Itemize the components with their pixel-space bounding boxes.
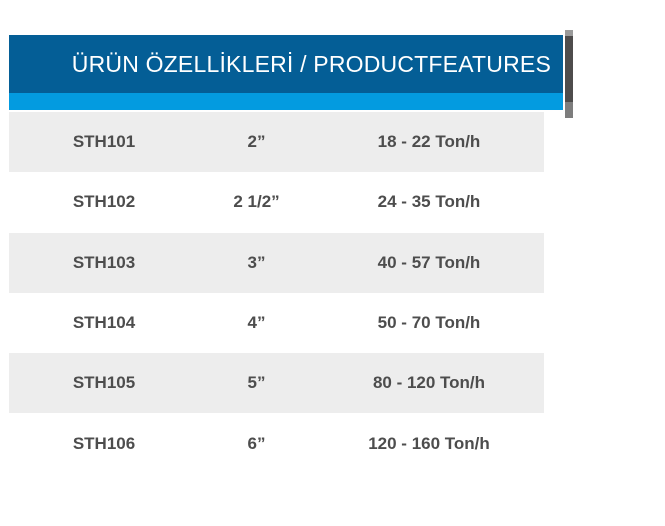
scrollbar-thumb[interactable] [565, 36, 573, 102]
page-title: ÜRÜN ÖZELLİKLERİ / PRODUCTFEATURES [9, 35, 551, 93]
table-row: STH105 5” 80 - 120 Ton/h [9, 353, 544, 413]
cell-size: 5” [199, 353, 314, 413]
cell-capacity: 50 - 70 Ton/h [314, 293, 544, 353]
cell-size: 4” [199, 293, 314, 353]
table-header-block: ÜRÜN ÖZELLİKLERİ / PRODUCTFEATURES [9, 35, 563, 110]
product-features-page: ÜRÜN ÖZELLİKLERİ / PRODUCTFEATURES STH10… [0, 0, 665, 526]
header-accent-strip [9, 93, 563, 110]
cell-size: 2 1/2” [199, 172, 314, 232]
cell-capacity: 40 - 57 Ton/h [314, 233, 544, 293]
table-body: STH101 2” 18 - 22 Ton/h STH102 2 1/2” 24… [9, 112, 544, 474]
cell-capacity: 120 - 160 Ton/h [314, 413, 544, 473]
table-row: STH103 3” 40 - 57 Ton/h [9, 233, 544, 293]
table-row: STH101 2” 18 - 22 Ton/h [9, 112, 544, 172]
header-bar: ÜRÜN ÖZELLİKLERİ / PRODUCTFEATURES [9, 35, 563, 93]
cell-size: 6” [199, 413, 314, 473]
scrollbar[interactable] [565, 30, 573, 118]
cell-size: 2” [199, 112, 314, 172]
cell-model: STH101 [9, 112, 199, 172]
cell-capacity: 80 - 120 Ton/h [314, 353, 544, 413]
cell-model: STH104 [9, 293, 199, 353]
cell-model: STH102 [9, 172, 199, 232]
product-features-table: STH101 2” 18 - 22 Ton/h STH102 2 1/2” 24… [9, 112, 544, 474]
table-row: STH106 6” 120 - 160 Ton/h [9, 413, 544, 473]
table-row: STH102 2 1/2” 24 - 35 Ton/h [9, 172, 544, 232]
cell-capacity: 24 - 35 Ton/h [314, 172, 544, 232]
scrollbar-cap-bottom[interactable] [565, 102, 573, 118]
cell-size: 3” [199, 233, 314, 293]
table-row: STH104 4” 50 - 70 Ton/h [9, 293, 544, 353]
cell-model: STH103 [9, 233, 199, 293]
cell-capacity: 18 - 22 Ton/h [314, 112, 544, 172]
cell-model: STH105 [9, 353, 199, 413]
cell-model: STH106 [9, 413, 199, 473]
